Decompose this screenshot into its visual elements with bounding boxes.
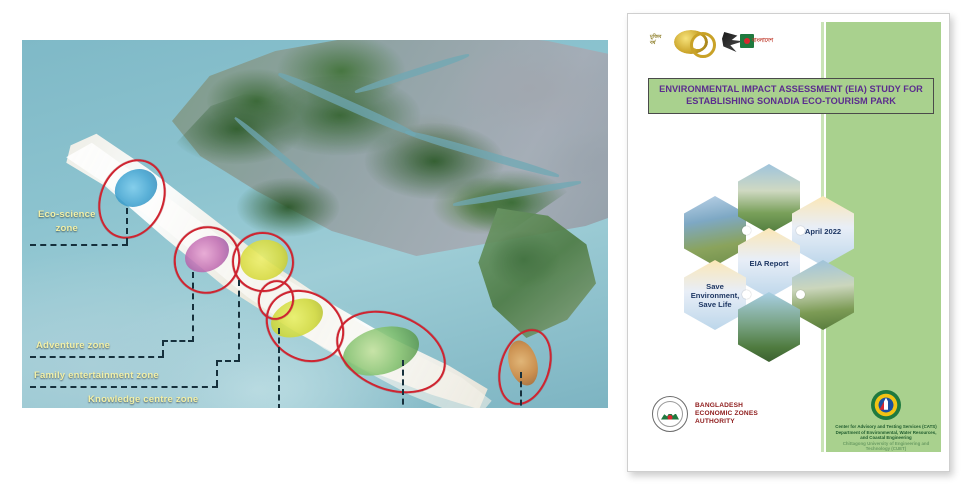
zone-label-adventure: Adventure zone	[36, 340, 110, 351]
beza-line3: AUTHORITY	[695, 418, 758, 426]
hexagon-connector-dot	[796, 226, 805, 235]
report-title: ENVIRONMENTAL IMPACT ASSESSMENT (EIA) ST…	[648, 78, 934, 114]
hexagon-connector-dot	[742, 226, 751, 235]
hexagon-photo-river	[738, 292, 800, 362]
zone-label-eco-science-line2: zone	[38, 222, 96, 236]
leader-line-knowledge-vertical	[278, 328, 280, 408]
eia-report-cover: মুজিব বর্ষ বাংলাদেশ ENVIRONMENTAL IMPACT…	[627, 13, 950, 472]
leader-line-adventure-mid	[162, 340, 194, 342]
leader-line-family-vertical	[238, 280, 240, 360]
map-canvas: Eco-science zone Adventure zone Family e…	[22, 40, 608, 408]
leader-line-adventure	[30, 356, 164, 358]
hexagon-photo-boat-group	[738, 164, 800, 234]
cats-consultant-block: Center for Advisory and Testing Services…	[834, 390, 938, 452]
zone-label-knowledge-centre: Knowledge centre zone	[88, 394, 198, 405]
beza-line2: ECONOMIC ZONES	[695, 410, 758, 418]
leader-line-adventure-drop	[162, 340, 164, 356]
zone-label-eco-science-line1: Eco-science	[38, 208, 96, 222]
beza-seal-emblem	[661, 409, 679, 420]
leader-line-entrance-vertical	[520, 372, 522, 408]
beza-line1: BANGLADESH	[695, 402, 758, 410]
cover-page-inner: মুজিব বর্ষ বাংলাদেশ ENVIRONMENTAL IMPACT…	[636, 22, 941, 463]
beza-seal-icon	[652, 396, 688, 432]
leader-line-family-mid	[216, 360, 240, 362]
hexagon-slogan-label: Save Environment, Save Life	[689, 282, 741, 309]
hexagon-connector-dot	[742, 290, 751, 299]
mujib-borsho-icon: মুজিব বর্ষ	[650, 30, 708, 54]
cuet-seal-icon	[871, 390, 901, 420]
cats-line4: Chittagong University of Engineering and…	[834, 441, 938, 452]
leader-line-eco-science	[30, 244, 128, 246]
hexagon-slogan: Save Environment, Save Life	[684, 260, 746, 330]
header-logo-row: মুজিব বর্ষ বাংলাদেশ	[650, 30, 774, 54]
zone-label-family-entertainment: Family entertainment zone	[34, 370, 159, 381]
mujib-ring-icon	[690, 32, 716, 58]
zone-label-eco-science: Eco-science zone	[38, 208, 96, 236]
hexagon-connector-dot	[796, 290, 805, 299]
hexagon-photo-survey	[684, 196, 746, 266]
leader-line-family-entertainment	[30, 386, 218, 388]
leader-line-eco-science-vertical	[126, 208, 128, 244]
cats-line1: Center for Advisory and Testing Services…	[834, 424, 938, 430]
beza-logo-text: BANGLADESH ECONOMIC ZONES AUTHORITY	[695, 402, 758, 427]
cats-consultant-text: Center for Advisory and Testing Services…	[834, 424, 938, 452]
hexagon-collage: April 2022 EIA Report Save Environment, …	[684, 160, 934, 360]
beza-client-logo: BANGLADESH ECONOMIC ZONES AUTHORITY	[652, 396, 758, 432]
leader-line-family-drop	[216, 360, 218, 386]
sports-logo-caption: বাংলাদেশ	[752, 38, 773, 46]
bangladesh-sports-icon: বাংলাদেশ	[722, 30, 774, 54]
leader-line-adventure-vertical	[192, 272, 194, 342]
sonadia-zoning-map-figure: Eco-science zone Adventure zone Family e…	[22, 40, 608, 408]
mujib-borsho-caption: মুজিব বর্ষ	[650, 34, 661, 46]
leader-line-heritage-vertical	[402, 360, 404, 408]
hexagon-report-type: EIA Report	[738, 228, 800, 298]
hexagon-report-type-label: EIA Report	[750, 259, 789, 268]
beza-seal-sun-icon	[668, 415, 673, 420]
hexagon-date-label: April 2022	[805, 227, 841, 236]
